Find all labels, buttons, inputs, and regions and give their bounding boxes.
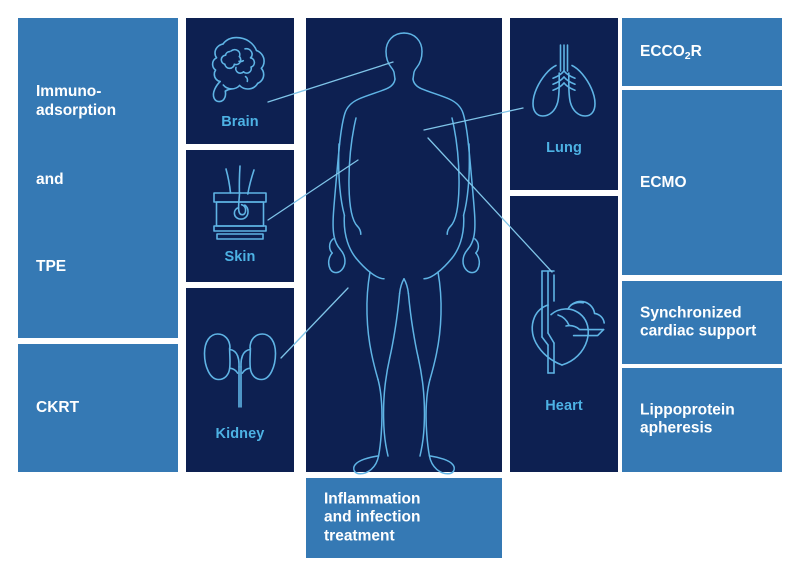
- human-body-icon: [0, 0, 800, 566]
- organ-support-diagram: Immuno- adsorption and TPE CKRT: [0, 0, 800, 566]
